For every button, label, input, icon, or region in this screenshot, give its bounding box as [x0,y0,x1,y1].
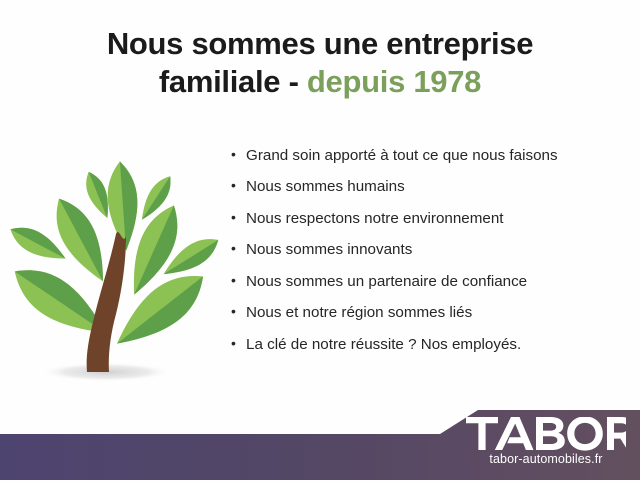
title-line-2: familiale - depuis 1978 [0,64,640,99]
benefits-list: Grand soin apporté à tout ce que nous fa… [230,147,630,367]
list-item: Nous sommes innovants [230,241,630,259]
title-accent-since-1978: depuis 1978 [307,64,481,99]
list-item: Nous sommes un partenaire de confiance [230,273,630,291]
tabor-wordmark-icon [466,417,626,451]
list-item: Nous sommes humains [230,178,630,196]
slide-canvas: Nous sommes une entreprise familiale - d… [0,0,640,480]
tree-illustration [8,150,220,390]
list-item: Grand soin apporté à tout ce que nous fa… [230,147,630,165]
title-line-2-main: familiale - [159,64,299,99]
brand-tagline: tabor-automobiles.fr [466,452,626,466]
title-line-1: Nous sommes une entreprise [0,26,640,61]
list-item: La clé de notre réussite ? Nos employés. [230,336,630,354]
page-title: Nous sommes une entreprise familiale - d… [0,26,640,100]
list-item: Nous et notre région sommes liés [230,304,630,322]
list-item: Nous respectons notre environnement [230,210,630,228]
tree-icon [8,150,220,390]
brand-logo[interactable]: tabor-automobiles.fr [466,417,626,466]
footer-band: tabor-automobiles.fr [0,400,640,480]
